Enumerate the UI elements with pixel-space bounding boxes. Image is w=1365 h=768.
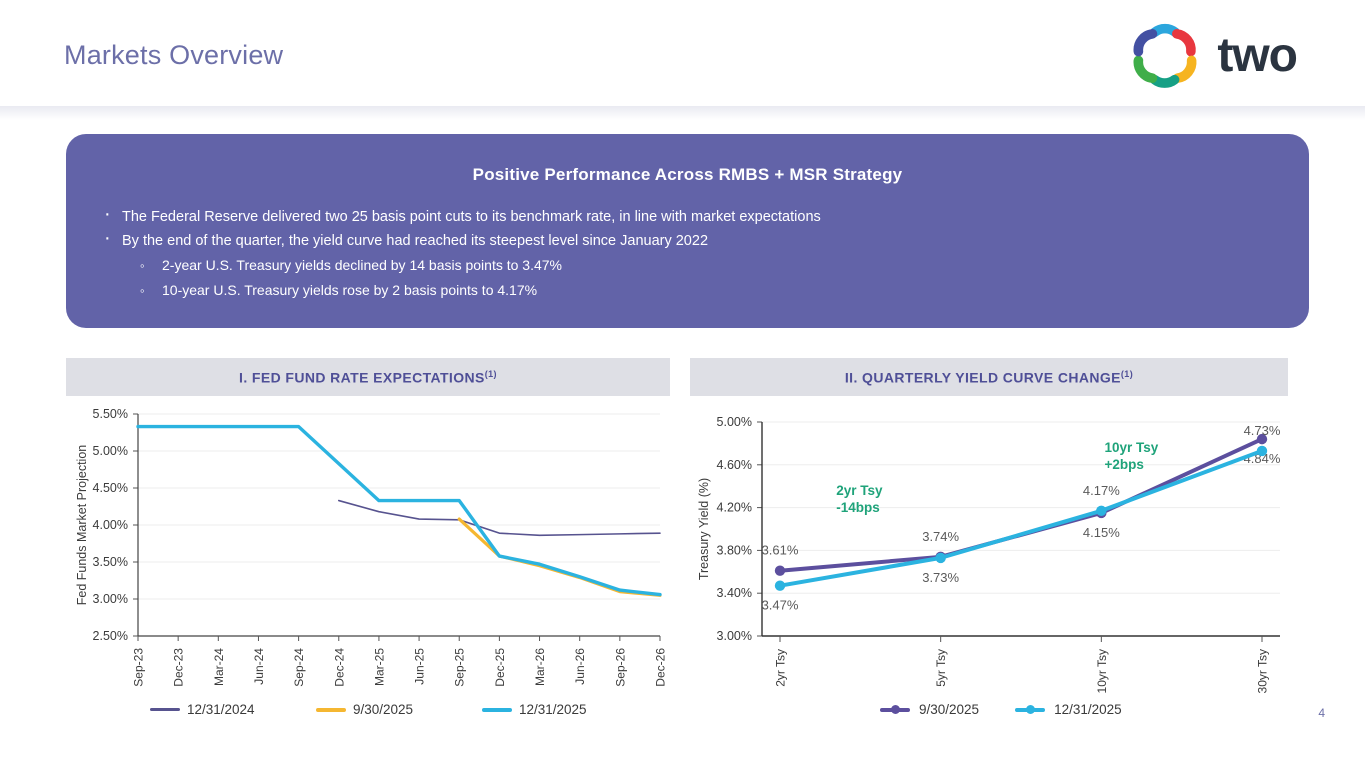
x-axis-tick-label: Sep-24 (292, 648, 306, 687)
legend-swatch-line (316, 708, 346, 712)
legend-item[interactable]: 9/30/2025 (316, 702, 482, 717)
x-axis-tick-label: Mar-26 (533, 648, 547, 686)
legend-label: 9/30/2025 (353, 702, 413, 717)
x-axis-tick-label: 2yr Tsy (774, 649, 788, 687)
bullet-item: By the end of the quarter, the yield cur… (96, 229, 1279, 253)
x-axis-tick-label: Dec-26 (654, 648, 668, 687)
legend-label: 12/31/2025 (1054, 702, 1122, 717)
legend-label: 12/31/2025 (519, 702, 587, 717)
brand-logo: two (1127, 22, 1297, 90)
y-axis-title: Fed Funds Market Projection (75, 445, 89, 606)
y-axis-tick-label: 3.50% (93, 555, 128, 569)
x-axis-tick-label: Sep-26 (613, 648, 627, 687)
series-line (339, 501, 660, 536)
chart-quarterly-yield-curve-change: 3.00%3.40%3.80%4.20%4.60%5.00%2yr Tsy5yr… (690, 400, 1288, 730)
x-axis-tick-label: Jun-26 (573, 648, 587, 685)
chart-fed-fund-rate-expectations: 2.50%3.00%3.50%4.00%4.50%5.00%5.50%Sep-2… (66, 400, 670, 730)
y-axis-tick-label: 5.00% (717, 415, 752, 429)
highlight-callout: Positive Performance Across RMBS + MSR S… (66, 134, 1309, 328)
sub-bullet-item: 2-year U.S. Treasury yields declined by … (96, 253, 1279, 278)
page-title: Markets Overview (64, 40, 283, 71)
data-point-label: 4.15% (1083, 525, 1120, 540)
legend-item[interactable]: 12/31/2025 (482, 702, 648, 717)
x-axis-tick-label: Jun-25 (413, 648, 427, 685)
legend-item[interactable]: 12/31/2024 (150, 702, 316, 717)
chart-annotation: 10yr Tsy (1105, 440, 1159, 455)
header-divider (0, 106, 1365, 120)
data-point-label: 3.73% (922, 570, 959, 585)
chart-annotation: 2yr Tsy (836, 483, 883, 498)
panel-title-left: I. FED FUND RATE EXPECTATIONS(1) (239, 369, 497, 386)
x-axis-tick-label: Dec-23 (172, 648, 186, 687)
callout-title: Positive Performance Across RMBS + MSR S… (96, 165, 1279, 185)
legend-swatch-line (482, 708, 512, 712)
bullet-item: The Federal Reserve delivered two 25 bas… (96, 205, 1279, 229)
chart-annotation: +2bps (1105, 457, 1144, 472)
y-axis-tick-label: 5.50% (93, 407, 128, 421)
x-axis-tick-label: Dec-25 (493, 648, 507, 687)
data-point-label: 4.73% (1244, 423, 1281, 438)
slide: Markets Overview two Positive Performanc… (0, 0, 1365, 768)
x-axis-tick-label: Jun-24 (252, 648, 266, 685)
logo-wordmark: two (1217, 32, 1297, 80)
y-axis-title: Treasury Yield (%) (697, 478, 711, 580)
two-logo-icon (1127, 22, 1203, 90)
sub-bullet-item: 10-year U.S. Treasury yields rose by 2 b… (96, 278, 1279, 303)
x-axis-tick-label: Mar-24 (212, 648, 226, 686)
chart-annotation: -14bps (836, 500, 880, 515)
panel-header-left: I. FED FUND RATE EXPECTATIONS(1) (66, 358, 670, 396)
y-axis-tick-label: 4.20% (717, 501, 752, 515)
data-point-marker (935, 553, 945, 563)
y-axis-tick-label: 3.00% (93, 592, 128, 606)
data-point-label: 3.47% (762, 598, 799, 613)
page-number: 4 (1318, 706, 1325, 720)
y-axis-tick-label: 3.00% (717, 629, 752, 643)
y-axis-tick-label: 2.50% (93, 629, 128, 643)
data-point-label: 4.17% (1083, 483, 1120, 498)
y-axis-tick-label: 4.60% (717, 458, 752, 472)
x-axis-tick-label: Sep-25 (453, 648, 467, 687)
legend-label: 9/30/2025 (919, 702, 979, 717)
fed-fund-chart-svg: 2.50%3.00%3.50%4.00%4.50%5.00%5.50%Sep-2… (66, 400, 670, 730)
data-point-marker (1096, 506, 1106, 516)
x-axis-tick-label: Mar-25 (372, 648, 386, 686)
x-axis-tick-label: 10yr Tsy (1095, 649, 1109, 693)
x-axis-tick-label: 5yr Tsy (934, 649, 948, 687)
y-axis-tick-label: 3.40% (717, 586, 752, 600)
legend-swatch-marker (1015, 705, 1047, 715)
data-point-marker (1257, 446, 1267, 456)
yield-curve-chart-svg: 3.00%3.40%3.80%4.20%4.60%5.00%2yr Tsy5yr… (690, 400, 1288, 730)
y-axis-tick-label: 5.00% (93, 444, 128, 458)
series-line (138, 427, 660, 595)
y-axis-tick-label: 4.00% (93, 518, 128, 532)
data-point-marker (775, 581, 785, 591)
x-axis-tick-label: 30yr Tsy (1256, 649, 1270, 693)
x-axis-tick-label: Dec-24 (332, 648, 346, 687)
legend-swatch-marker (880, 705, 912, 715)
legend-swatch-line (150, 708, 180, 711)
data-point-label: 3.61% (762, 543, 799, 558)
legend-item[interactable]: 9/30/2025 (880, 702, 979, 717)
callout-bullet-list: The Federal Reserve delivered two 25 bas… (96, 205, 1279, 303)
legend-left: 12/31/2024 9/30/2025 12/31/2025 (150, 702, 650, 717)
legend-label: 12/31/2024 (187, 702, 255, 717)
data-point-label: 3.74% (922, 529, 959, 544)
legend-right: 9/30/2025 12/31/2025 (880, 702, 1122, 717)
data-point-marker (775, 566, 785, 576)
panel-title-right: II. QUARTERLY YIELD CURVE CHANGE(1) (845, 369, 1133, 386)
y-axis-tick-label: 4.50% (93, 481, 128, 495)
y-axis-tick-label: 3.80% (717, 543, 752, 557)
x-axis-tick-label: Sep-23 (132, 648, 146, 687)
legend-item[interactable]: 12/31/2025 (1015, 702, 1122, 717)
panel-header-right: II. QUARTERLY YIELD CURVE CHANGE(1) (690, 358, 1288, 396)
